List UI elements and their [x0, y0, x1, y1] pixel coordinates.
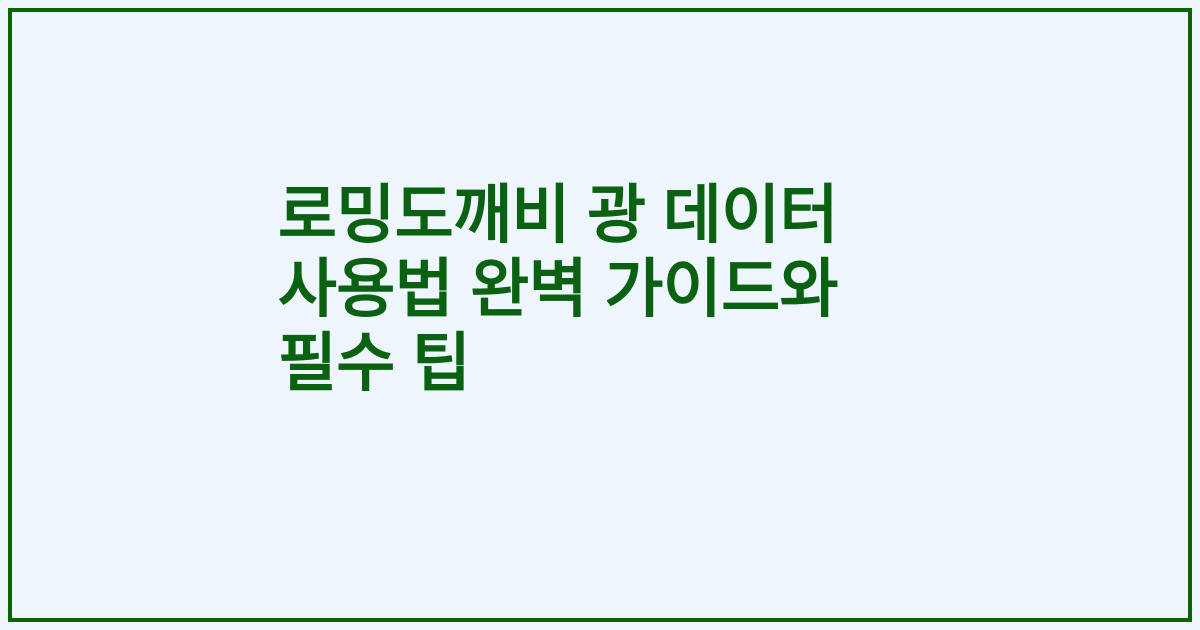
page-title: 로밍도깨비 광 데이터 사용법 완벽 가이드와 필수 팁: [278, 178, 938, 400]
headline-block: 로밍도깨비 광 데이터 사용법 완벽 가이드와 필수 팁: [278, 178, 938, 400]
og-card: 로밍도깨비 광 데이터 사용법 완벽 가이드와 필수 팁: [0, 0, 1200, 630]
